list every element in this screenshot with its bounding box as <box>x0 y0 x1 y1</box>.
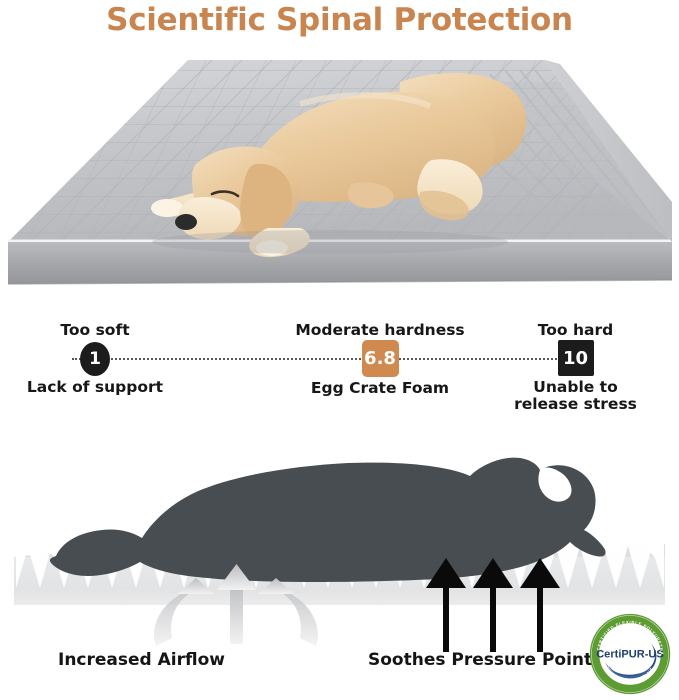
certipur-us-badge: CertiPUR-US ® CONTAINS CERTIFIED FLEXIBL… <box>589 613 671 695</box>
scale-stop-top-label: Moderate hardness <box>290 322 470 339</box>
certipur-brand-text: CertiPUR-US <box>596 648 664 660</box>
scale-stop-bottom-label: Lack of support <box>10 379 180 396</box>
scale-stop-top-label: Too soft <box>10 322 180 339</box>
scale-stop-too-hard: Too hard 10 Unable to release stress <box>483 322 668 413</box>
scale-value-badge-1: 1 <box>80 342 110 376</box>
scale-stop-bottom-label: Egg Crate Foam <box>290 380 470 397</box>
scale-value-badge-10: 10 <box>558 340 594 376</box>
scale-stop-too-soft: Too soft 1 Lack of support <box>10 322 180 396</box>
scale-stop-bottom-label-line1: Unable to <box>483 379 668 396</box>
dog-silhouette-shape <box>50 458 606 582</box>
caption-soothes-pressure-points: Soothes Pressure Points <box>368 650 602 670</box>
product-photo <box>0 52 679 294</box>
scale-stop-moderate: Moderate hardness 6.8 Egg Crate Foam <box>290 322 470 397</box>
hardness-scale: Too soft 1 Lack of support Moderate hard… <box>0 310 679 420</box>
scale-stop-top-label: Too hard <box>483 322 668 339</box>
pressure-point-arrows <box>426 558 560 652</box>
caption-increased-airflow: Increased Airflow <box>58 650 225 670</box>
scale-stop-bottom-label-line2: release stress <box>483 396 668 413</box>
page-title: Scientific Spinal Protection <box>0 2 679 38</box>
scale-value-badge-68: 6.8 <box>362 340 399 377</box>
